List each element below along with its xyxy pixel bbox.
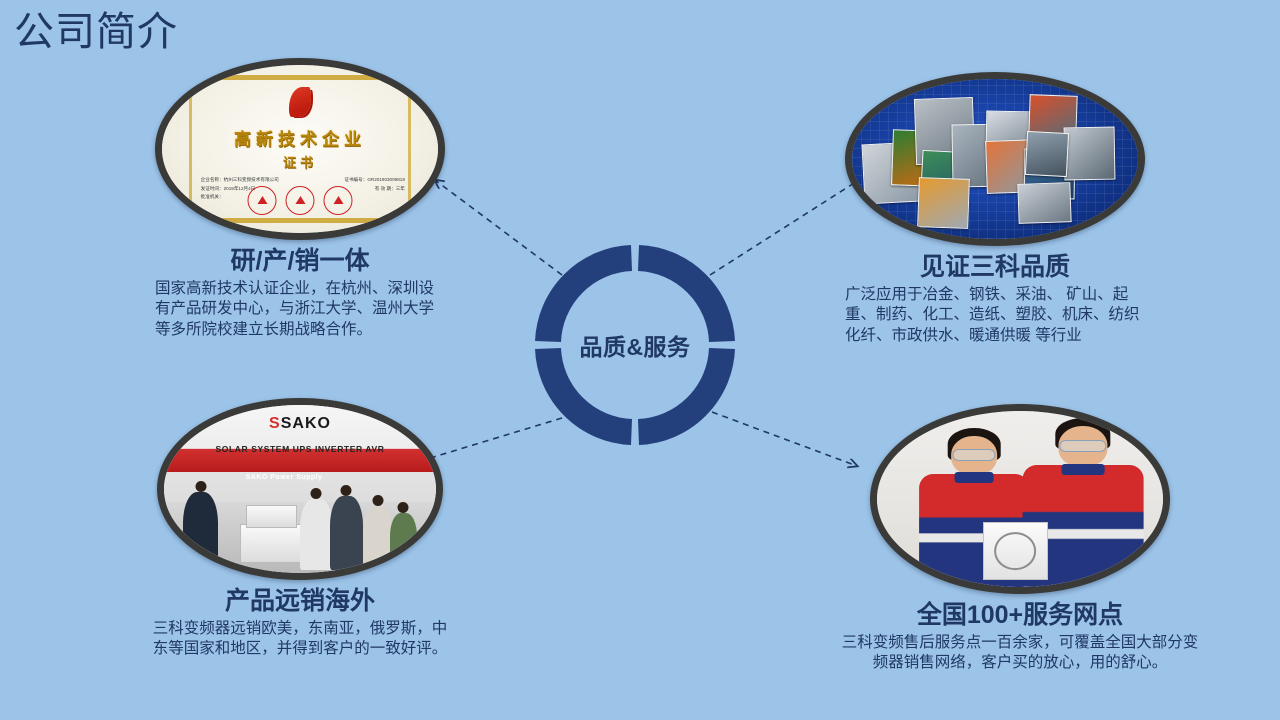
certificate-graphic: 高新技术企业 证书 企业名称：杭州三科变频技术有限公司 证书编号：GR20190… [162,65,438,233]
collar [955,472,994,483]
center-ring-label: 品质&服务 [525,235,745,455]
center-ring: 品质&服务 [525,235,745,455]
collage-photo [917,177,969,229]
collage-photo [1017,182,1072,224]
official-seal-icon [248,186,277,215]
visitor-figure [183,492,218,569]
node-service-network: 全国100+服务网点 三科变频售后服务点一百余家，可覆盖全国大部分变频器销售网络… [840,404,1200,674]
certificate-field-authority: 批准机关： [201,193,224,202]
visitor-figure [330,496,363,570]
fan-grille-icon [994,532,1036,570]
trade-show-oval-image: SSAKO SOLAR SYSTEM UPS INVERTER AVR SAKO… [157,398,443,580]
certificate-main-text: 高新技术企业 [162,125,438,150]
booth-graphic: SSAKO SOLAR SYSTEM UPS INVERTER AVR SAKO… [164,405,436,573]
certificate-sub-text: 证书 [162,152,438,171]
official-seal-icon [286,186,315,215]
node-description: 广泛应用于冶金、钢铁、采油、 矿山、起重、制药、化工、造纸、塑胶、机床、纺织化纤… [845,285,1145,346]
node-description: 国家高新技术认证企业，在杭州、深圳设有产品研发中心，与浙江大学、温州大学等多所院… [155,279,445,340]
product-display-crate [240,524,302,563]
visitor-figure [300,499,333,570]
collage-graphic [852,79,1138,239]
certificate-seals [248,186,353,215]
booth-brand-logo: SSAKO [269,415,331,433]
page-title: 公司简介 [14,8,178,56]
collage-photo [1063,127,1115,181]
node-title: 见证三科品质 [845,253,1145,282]
node-rd-production-sales: 高新技术企业 证书 企业名称：杭州三科变频技术有限公司 证书编号：GR20190… [155,58,445,340]
booth-brand-text: SAKO [281,415,331,432]
certificate-field-number: 证书编号：GR201903009819 [344,176,405,185]
node-description: 三科变频售后服务点一百余家，可覆盖全国大部分变频器销售网络，客户买的放心，用的舒… [840,633,1200,674]
visitor-figure [390,513,417,570]
product-box [983,522,1048,580]
certificate-oval-image: 高新技术企业 证书 企业名称：杭州三科变频技术有限公司 证书编号：GR20190… [155,58,445,240]
safety-glasses-icon [953,449,996,461]
certificate-field-validity: 有 效 期：三年 [375,185,405,194]
collage-photo [1025,131,1069,177]
collar [1062,464,1105,476]
visitor-figure [363,506,393,570]
node-title: 研/产/销一体 [155,247,445,276]
slide-canvas: 公司简介 品质&服务 [0,0,1280,720]
technicians-graphic [877,411,1163,587]
node-quality-witness: 见证三科品质 广泛应用于冶金、钢铁、采油、 矿山、起重、制药、化工、造纸、塑胶、… [845,72,1145,346]
node-overseas-sales: SSAKO SOLAR SYSTEM UPS INVERTER AVR SAKO… [150,398,450,660]
node-title: 全国100+服务网点 [840,601,1200,630]
safety-glasses-icon [1059,440,1106,452]
product-display-crate [246,505,297,527]
certificate-field-company: 企业名称：杭州三科变频技术有限公司 [201,176,279,185]
official-seal-icon [324,186,353,215]
booth-banner-text: SOLAR SYSTEM UPS INVERTER AVR [215,444,384,454]
technicians-oval-image [870,404,1170,594]
industry-collage-oval-image [845,72,1145,246]
booth-sub-banner-text: SAKO Power Supply [246,474,323,481]
node-description: 三科变频器远销欧美，东南亚，俄罗斯，中东等国家和地区，并得到客户的一致好评。 [150,619,450,660]
node-title: 产品远销海外 [150,587,450,616]
